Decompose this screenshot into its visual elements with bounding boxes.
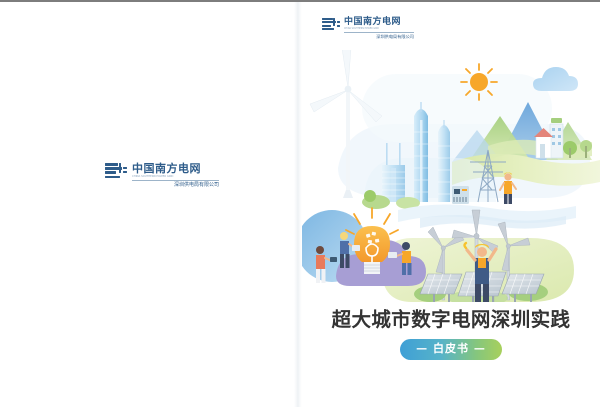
- cloud-icon: [533, 67, 578, 91]
- csg-logo-mark: [322, 18, 340, 31]
- cover-title-block: 超大城市数字电网深圳实践 — 白皮书 —: [302, 308, 600, 360]
- company-name-en: CHINA SOUTHERN POWER GRID: [132, 176, 219, 179]
- front-cover-logo-text: 中国南方电网 CHINA SOUTHERN POWER GRID 深圳供电局有限…: [344, 18, 414, 39]
- cover-illustration: [302, 50, 600, 302]
- back-cover-logo: 中国南方电网 CHINA SOUTHERN POWER GRID 深圳供电局有限…: [105, 163, 219, 188]
- front-cover-logo: 中国南方电网 CHINA SOUTHERN POWER GRID 深圳供电局有限…: [322, 18, 414, 39]
- company-name-cn: 中国南方电网: [344, 18, 414, 27]
- company-name-cn: 中国南方电网: [132, 163, 219, 174]
- cover-spread: 中国南方电网 CHINA SOUTHERN POWER GRID 深圳供电局有限…: [0, 0, 600, 407]
- substation-cabinet: [452, 186, 469, 204]
- company-name-en: CHINA SOUTHERN POWER GRID: [344, 28, 414, 30]
- tower-kk100: [438, 120, 450, 202]
- page-title: 超大城市数字电网深圳实践: [302, 308, 600, 331]
- subsidiary-name-cn: 深圳供电局有限公司: [132, 183, 219, 188]
- tower-ping-an: [414, 102, 428, 202]
- mid-ribbons: [398, 204, 576, 228]
- csg-logo-mark: [105, 163, 127, 179]
- front-cover-page: 中国南方电网 CHINA SOUTHERN POWER GRID 深圳供电局有限…: [302, 2, 600, 407]
- sun-icon: [461, 64, 497, 100]
- back-cover-page: 中国南方电网 CHINA SOUTHERN POWER GRID 深圳供电局有限…: [0, 2, 297, 407]
- back-cover-logo-text: 中国南方电网 CHINA SOUTHERN POWER GRID 深圳供电局有限…: [132, 163, 219, 188]
- book-spine: [294, 2, 302, 407]
- whitepaper-badge: — 白皮书 —: [400, 339, 502, 360]
- logo-divider: [132, 180, 219, 181]
- subsidiary-name-cn: 深圳供电局有限公司: [344, 35, 414, 39]
